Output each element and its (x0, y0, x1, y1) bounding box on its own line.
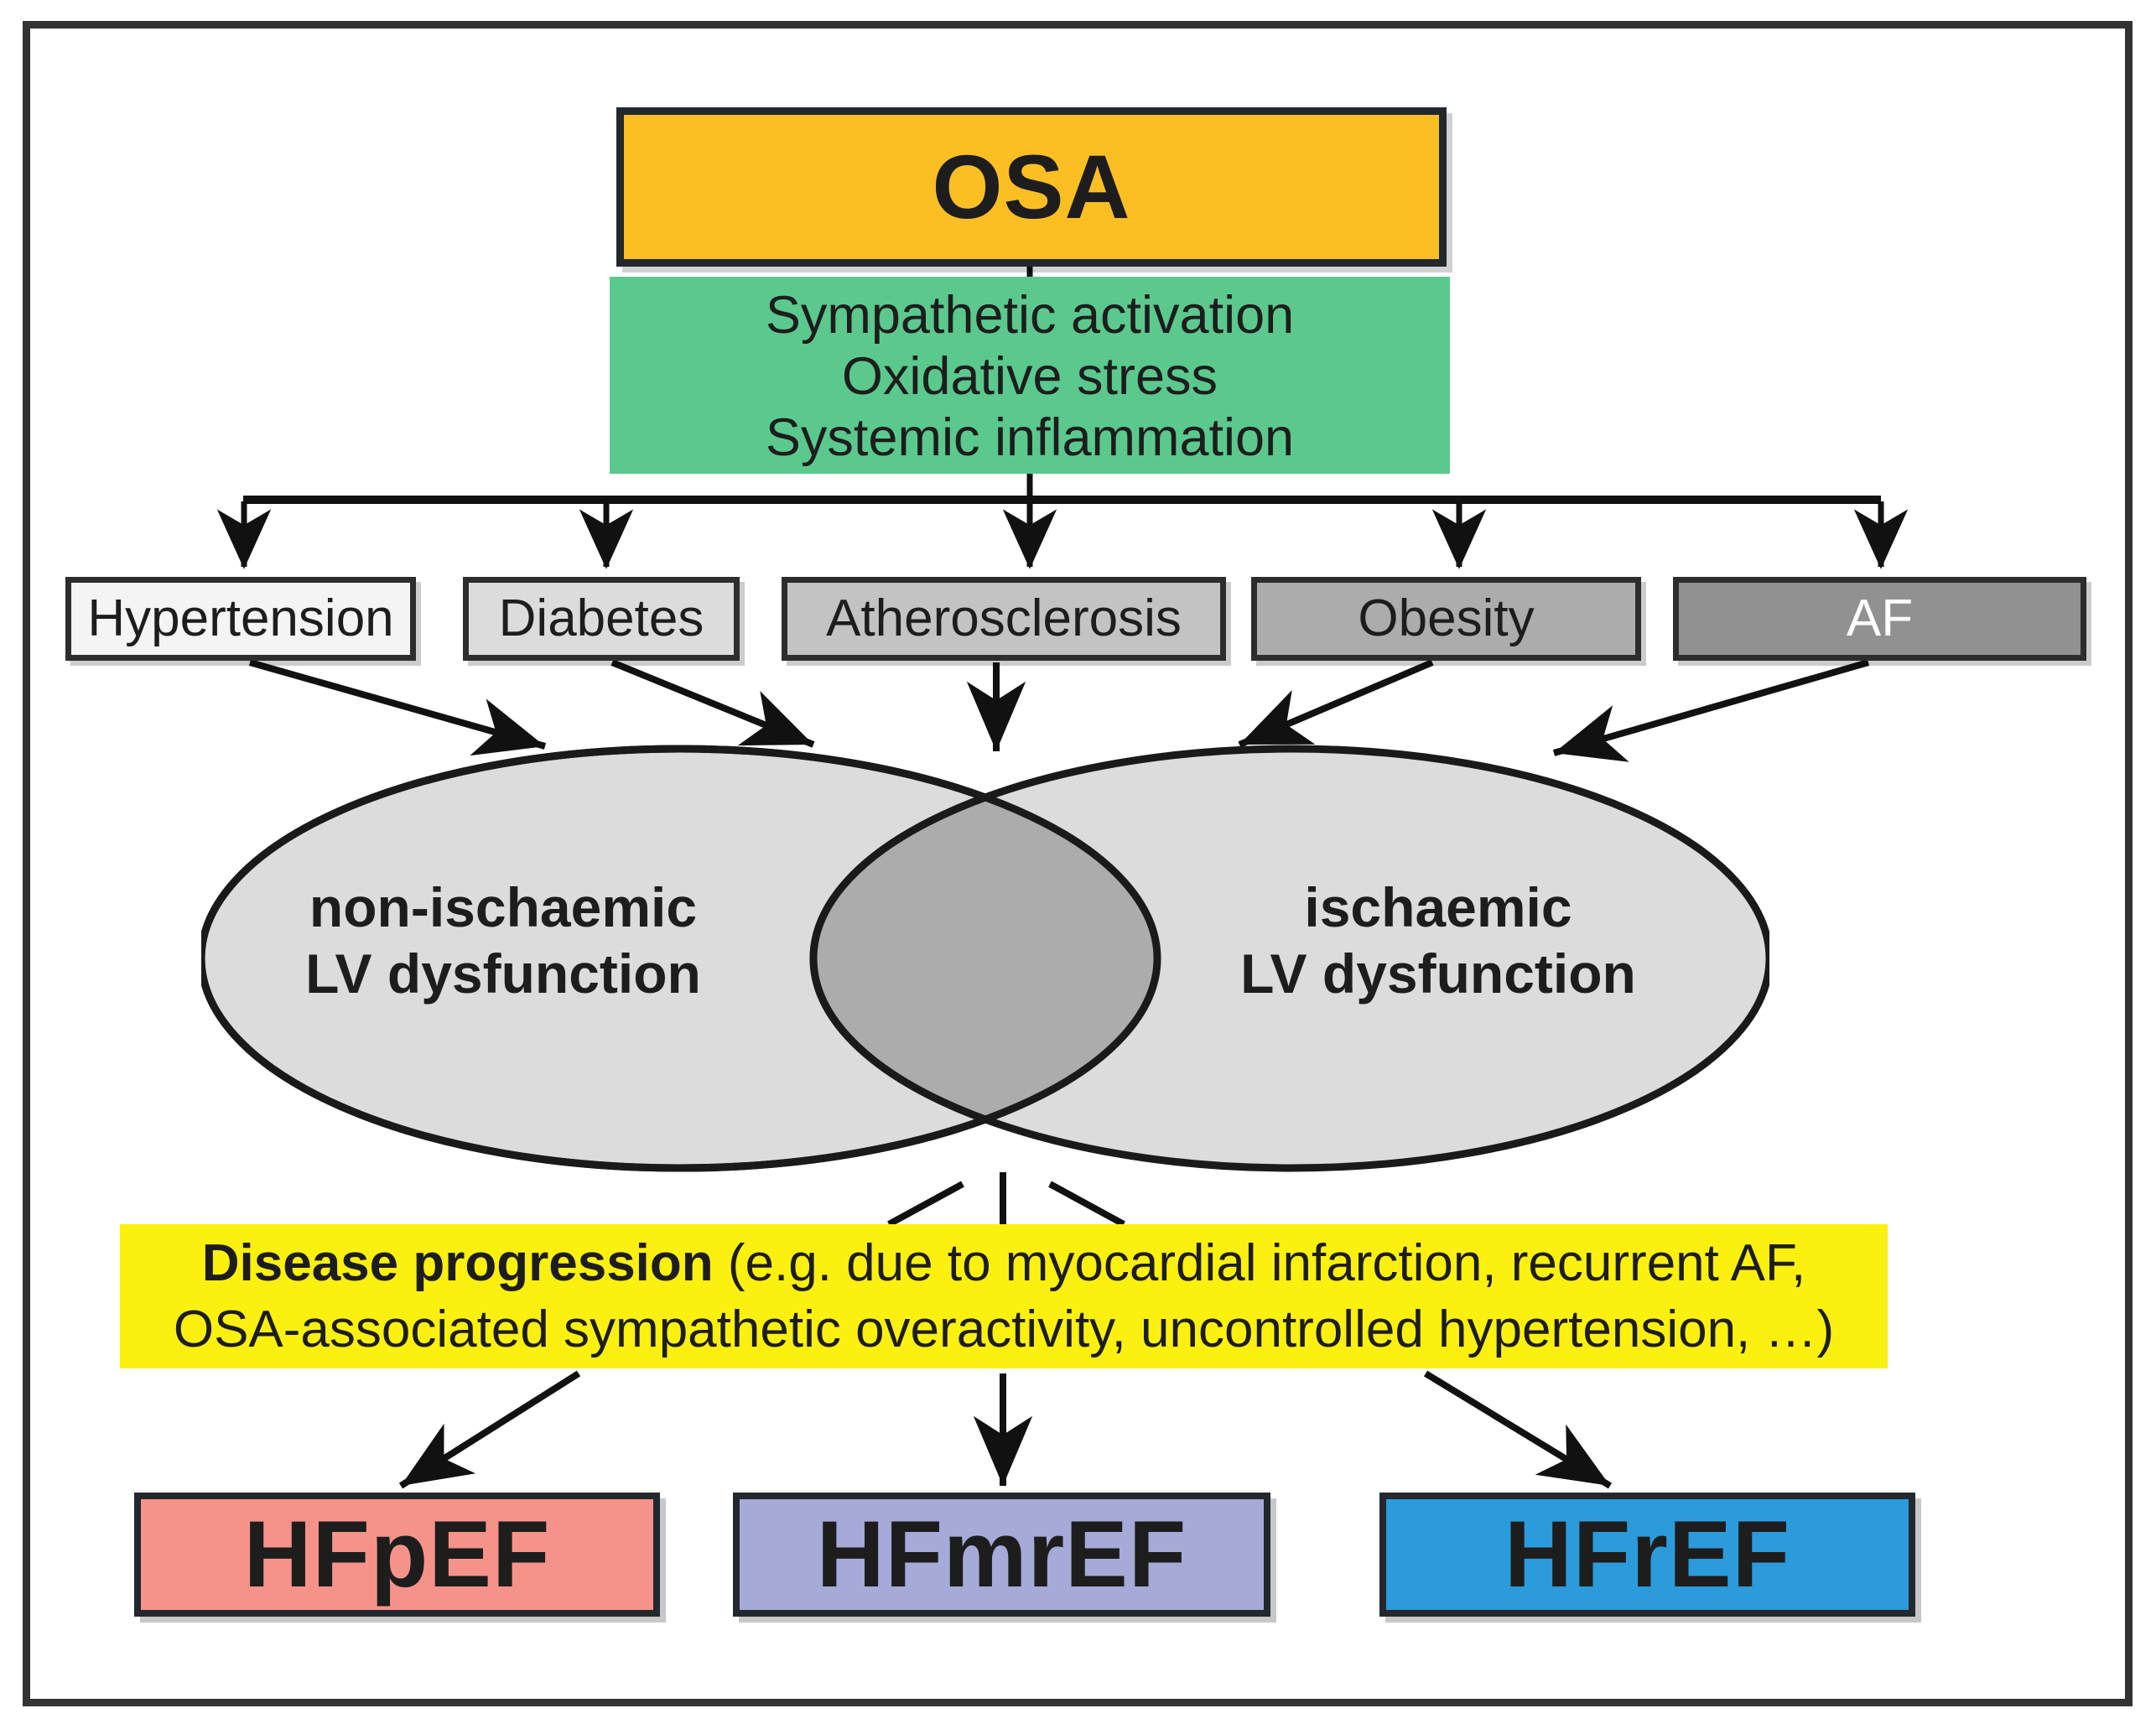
disease-progression-box: Disease progression (e.g. due to myocard… (120, 1224, 1888, 1368)
arrow-hypertension-to-nonischaemic (250, 662, 545, 746)
risk-factor-diabetes-label: Diabetes (499, 589, 704, 649)
diagram-canvas: non-ischaemic LV dysfunction ischaemic L… (0, 0, 2156, 1729)
arrow-af-to-ischaemic (1554, 662, 1868, 753)
venn-label-ischaemic: ischaemic LV dysfunction (1195, 875, 1681, 1007)
risk-factor-hypertension: Hypertension (65, 577, 416, 661)
outcome-box-hfref: HFrEF (1379, 1493, 1915, 1617)
risk-factor-obesity: Obesity (1251, 577, 1641, 661)
venn-label-nonischaemic-line2: LV dysfunction (305, 942, 701, 1005)
venn-label-nonischaemic: non-ischaemic LV dysfunction (260, 875, 746, 1007)
connector-venn-right-to-progression (1050, 1184, 1124, 1224)
osa-label: OSA (932, 134, 1130, 239)
outcome-box-hfmref-label: HFmrEF (817, 1500, 1187, 1609)
risk-factor-diabetes: Diabetes (463, 577, 740, 661)
disease-progression-line-1-rest: (e.g. due to myocardial infarction, recu… (714, 1234, 1806, 1292)
mechanism-line-2: Oxidative stress (610, 346, 1450, 408)
osa-box: OSA (616, 107, 1447, 267)
venn-label-nonischaemic-line1: non-ischaemic (309, 876, 697, 938)
risk-factor-af-label: AF (1847, 589, 1913, 649)
arrow-progression-to-hfref (1426, 1373, 1610, 1486)
outcome-box-hfpef-label: HFpEF (244, 1500, 551, 1609)
arrow-diabetes-to-nonischaemic (612, 662, 813, 745)
risk-factor-atherosclerosis-label: Atherosclerosis (826, 589, 1182, 649)
disease-progression-line-1: Disease progression (e.g. due to myocard… (148, 1230, 1859, 1296)
mechanism-line-3: Systemic inflammation (610, 408, 1450, 469)
outcome-box-hfref-label: HFrEF (1504, 1500, 1790, 1609)
arrow-progression-to-hfpef (401, 1373, 579, 1486)
venn-label-ischaemic-line1: ischaemic (1304, 876, 1572, 938)
disease-progression-bold-lead: Disease progression (202, 1234, 714, 1292)
outcome-box-hfmref: HFmrEF (733, 1493, 1270, 1617)
venn-label-ischaemic-line2: LV dysfunction (1240, 942, 1636, 1005)
mechanisms-box: Sympathetic activation Oxidative stress … (610, 277, 1450, 474)
risk-factor-hypertension-label: Hypertension (87, 589, 393, 649)
arrow-obesity-to-ischaemic (1239, 662, 1432, 745)
connector-venn-left-to-progression (889, 1184, 963, 1224)
outcome-box-hfpef: HFpEF (134, 1493, 660, 1617)
disease-progression-line-2: OSA-associated sympathetic overactivity,… (148, 1296, 1859, 1363)
risk-factor-obesity-label: Obesity (1358, 589, 1534, 649)
risk-factor-atherosclerosis: Atherosclerosis (782, 577, 1226, 661)
mechanism-line-1: Sympathetic activation (610, 285, 1450, 346)
risk-factor-af: AF (1673, 577, 2086, 661)
